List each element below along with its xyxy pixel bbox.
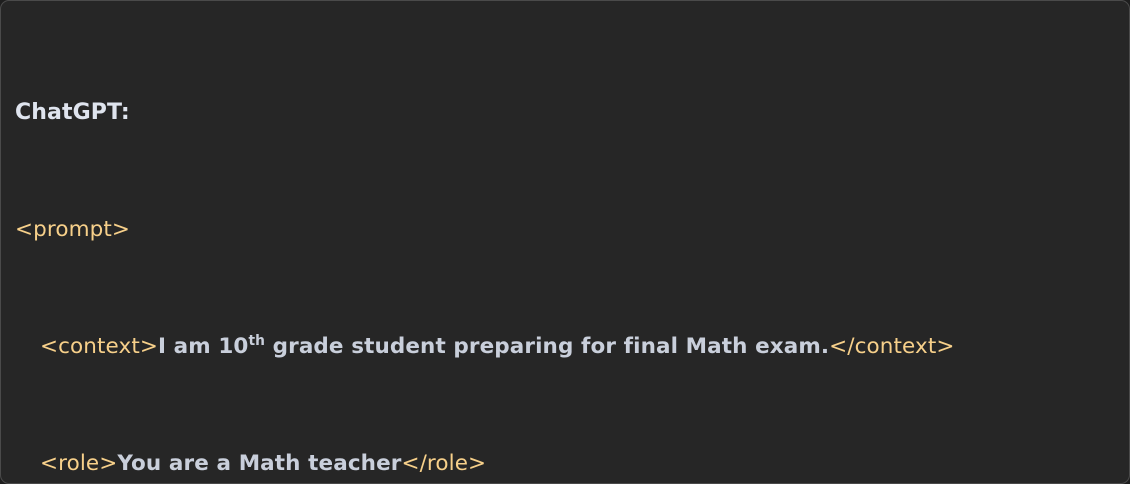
context-value-pre: I am 10 [158, 334, 249, 359]
tag-role-open: <role> [40, 451, 117, 476]
speaker-line: ChatGPT: [15, 98, 1129, 127]
context-value-post: grade student preparing for final Math e… [265, 334, 829, 359]
tag-prompt-open: <prompt> [15, 217, 130, 242]
context-value-superscript: th [248, 333, 265, 349]
prompt-code-block: ChatGPT: <prompt> <context>I am 10th gra… [15, 10, 1129, 484]
line-role: <role>You are a Math teacher</role> [15, 449, 1129, 478]
role-value: You are a Math teacher [117, 451, 401, 476]
speaker-label: ChatGPT: [15, 100, 130, 125]
line-context: <context>I am 10th grade student prepari… [15, 332, 1129, 361]
tag-context-close: </context> [829, 334, 954, 359]
tag-context-open: <context> [40, 334, 158, 359]
chatgpt-prompt-card: ChatGPT: <prompt> <context>I am 10th gra… [0, 0, 1130, 484]
line-prompt-open: <prompt> [15, 215, 1129, 244]
tag-role-close: </role> [401, 451, 486, 476]
